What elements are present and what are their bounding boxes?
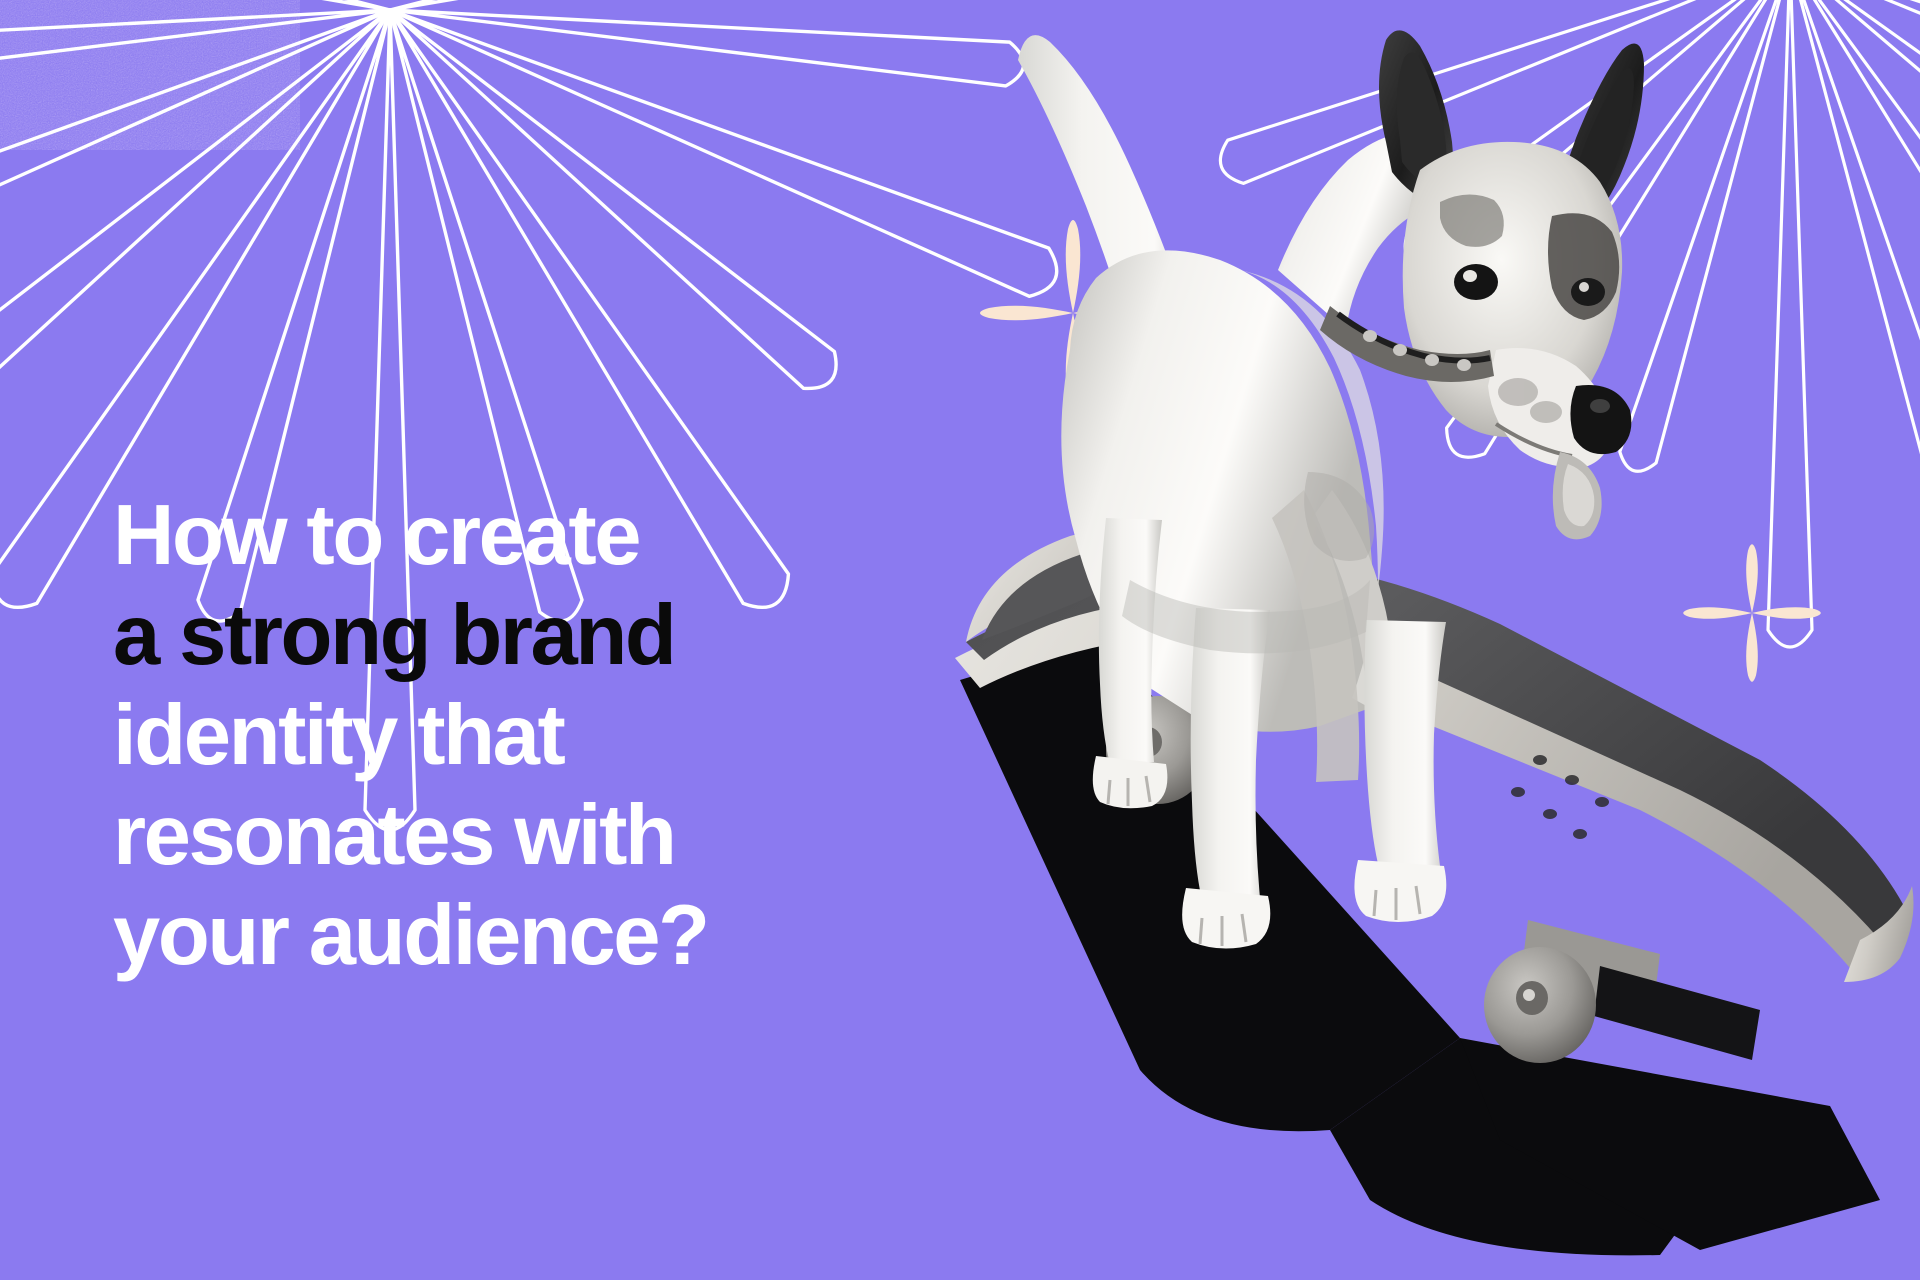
- grain-texture-overlay: [0, 0, 300, 150]
- headline-line-1: How to create: [113, 486, 953, 586]
- cover-canvas: How to create a strong brand identity th…: [0, 0, 1920, 1280]
- dog-nose: [1570, 385, 1631, 454]
- dog-eye-left: [1454, 264, 1498, 300]
- headline-line-3: identity that: [113, 686, 953, 786]
- headline-line-5: your audience?: [113, 886, 953, 986]
- dog-eye-right: [1571, 278, 1605, 306]
- dog-on-skateboard-photo: [900, 20, 1920, 1280]
- dog-head: [1379, 30, 1644, 539]
- page-title: How to create a strong brand identity th…: [113, 486, 953, 986]
- headline-line-2: a strong brand: [113, 586, 953, 686]
- headline-line-4: resonates with: [113, 786, 953, 886]
